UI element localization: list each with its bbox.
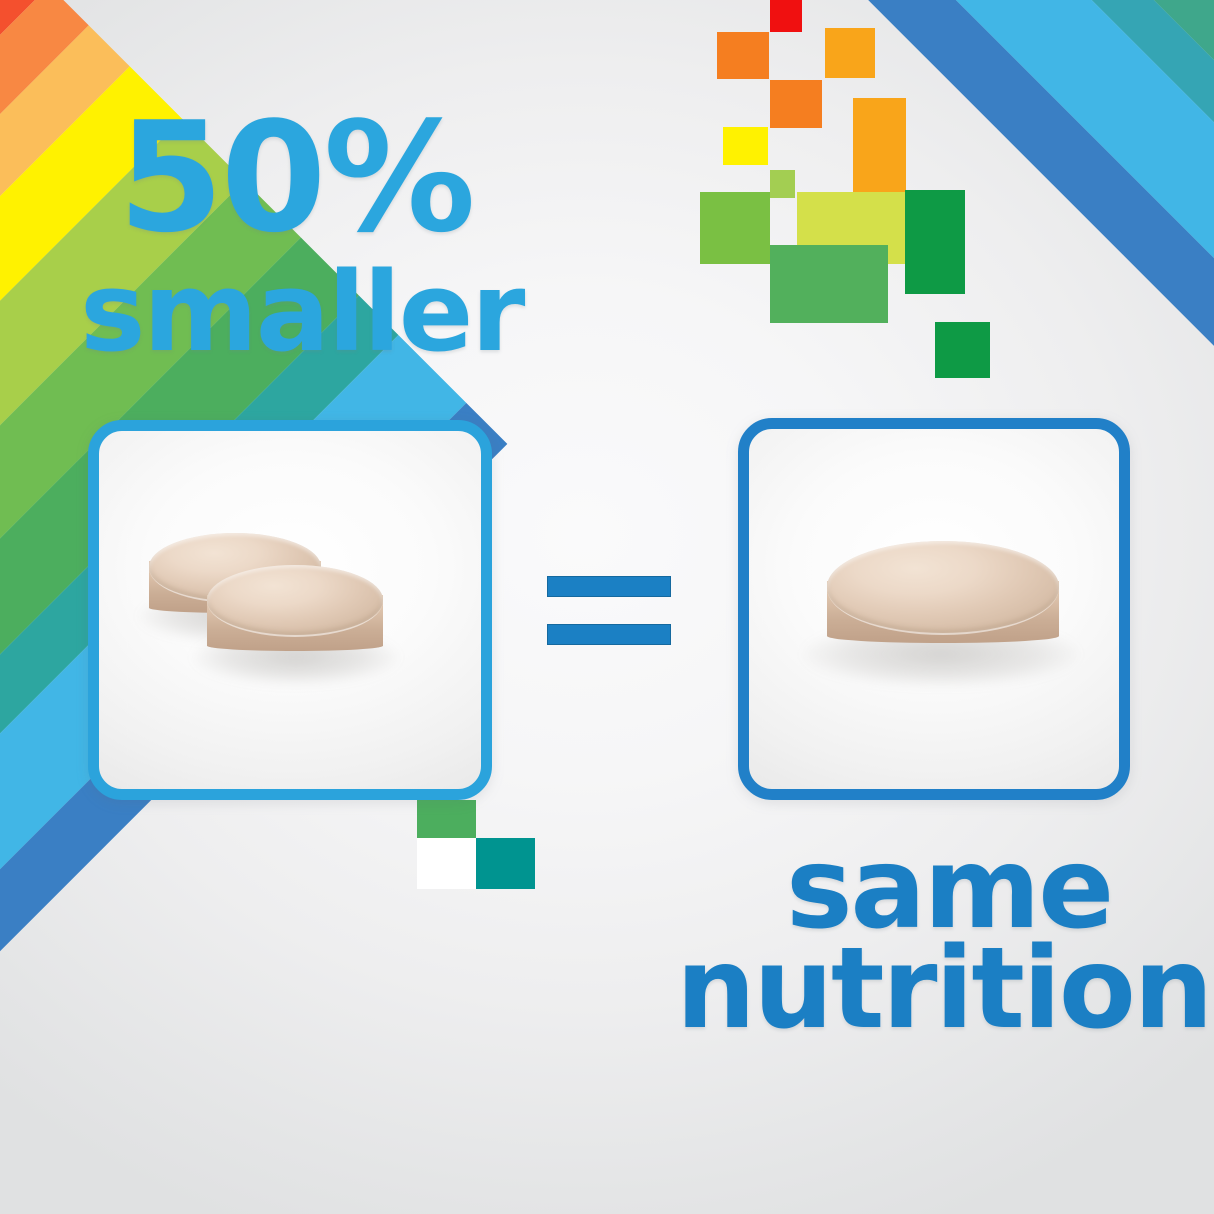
equals-bar-top	[547, 576, 671, 597]
top-right-square-2	[825, 28, 875, 78]
poster-canvas: 50% smaller same nutrition	[0, 0, 1214, 1214]
bottom-left-square-0	[476, 838, 535, 889]
headline-nutrition: nutrition	[676, 938, 1211, 1041]
caplet-large	[821, 537, 1073, 687]
headline-smaller: smaller	[80, 262, 523, 363]
top-right-square-5	[853, 98, 906, 192]
top-right-square-4	[723, 127, 768, 165]
top-right-square-7	[700, 192, 770, 264]
top-right-square-0	[770, 0, 802, 32]
left-panel-inner	[99, 431, 481, 789]
top-right-square-10	[905, 190, 965, 294]
caplet-small-front	[203, 559, 393, 683]
top-right-square-11	[935, 322, 990, 378]
top-right-square-1	[717, 32, 769, 79]
top-right-square-3	[770, 80, 822, 128]
headline-percent: 50%	[118, 108, 473, 248]
top-right-square-9	[770, 245, 888, 323]
bottom-left-square-1	[417, 838, 476, 889]
bottom-left-square-2	[417, 800, 476, 838]
right-panel-inner	[749, 429, 1119, 789]
equals-bar-bottom	[547, 624, 671, 645]
top-right-square-6	[770, 170, 795, 198]
right-product-panel	[738, 418, 1130, 800]
left-product-panel	[88, 420, 492, 800]
equals-gap	[547, 597, 671, 624]
equals-sign	[547, 576, 671, 645]
